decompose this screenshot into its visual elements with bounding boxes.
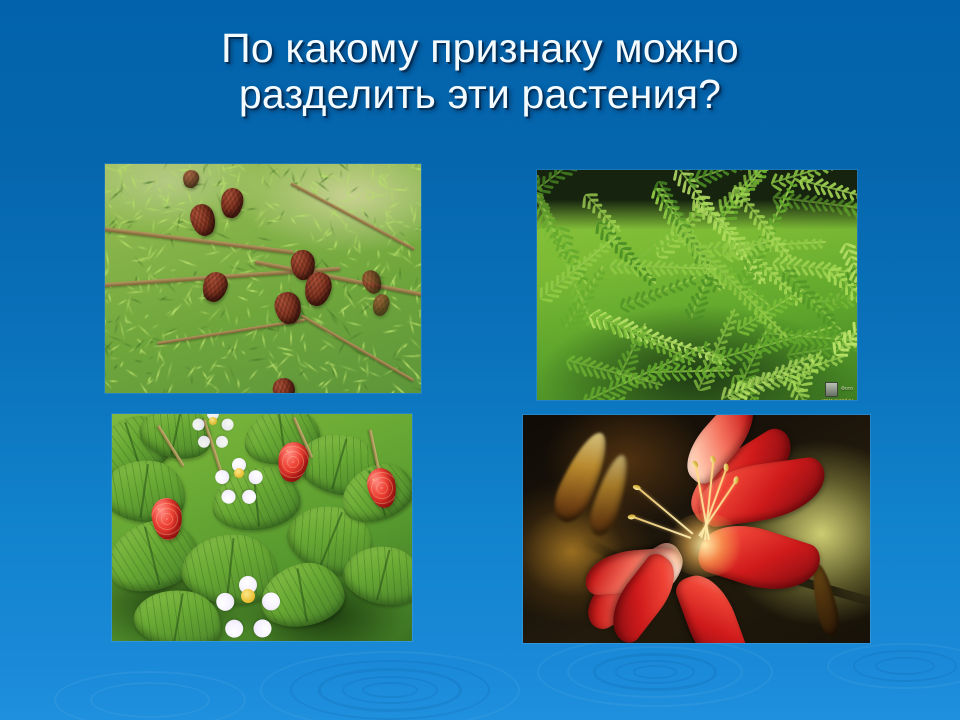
ripple-ring [593, 653, 717, 690]
ripple-ring [537, 637, 773, 708]
wild-strawberry-photo [112, 414, 412, 641]
ripple-ring [615, 660, 695, 684]
strawberry-flower [200, 414, 226, 434]
presentation-slide: По какому признаку можно разделить эти р… [0, 0, 960, 720]
larch-branch-with-cones-photo [105, 164, 421, 393]
photo-watermark: Фото www.narod.ru [825, 382, 853, 397]
fern-frond [605, 395, 711, 400]
ripple-ring [342, 676, 438, 705]
strawberry-flower [228, 576, 268, 616]
ripple-ring [362, 682, 418, 699]
red-lily-flower-photo [523, 415, 870, 643]
page-title: По какому признаку можно разделить эти р… [60, 26, 900, 118]
fern-frond [649, 364, 733, 380]
ripple-ring [54, 671, 246, 720]
ripple-ring [875, 657, 935, 675]
ripple-ring [853, 650, 957, 681]
strawberry-leaf [338, 537, 412, 612]
ripple-ring [290, 660, 490, 720]
fern-frond [844, 198, 857, 226]
ripple-ring [90, 682, 210, 718]
fern-frond [537, 170, 651, 194]
strawberry-flower [224, 458, 254, 488]
ripple-ring [260, 651, 520, 720]
ferns-in-forest-photo: Фото www.narod.ru [537, 170, 857, 400]
watermark-logo-icon [825, 382, 838, 397]
ripple-ring [567, 646, 743, 699]
watermark-url: www.narod.ru [822, 398, 853, 400]
ripple-ring [318, 668, 462, 711]
watermark-label: Фото [841, 387, 853, 392]
ripple-ring [633, 665, 677, 678]
fern-frond-texture [537, 170, 857, 400]
ripple-ring [827, 643, 960, 690]
